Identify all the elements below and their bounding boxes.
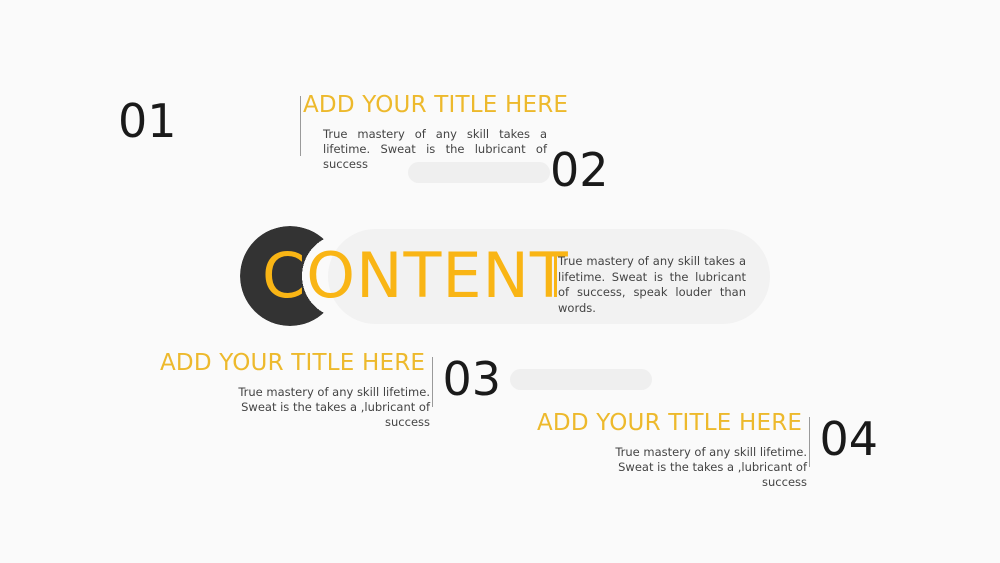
- block-03-number: 03: [442, 356, 501, 402]
- content-block-02[interactable]: 02 ADD YOUR TITLE HERE True mastery of a…: [550, 143, 895, 233]
- content-block-03[interactable]: ADD YOUR TITLE HERE 03 True mastery of a…: [160, 352, 510, 442]
- center-title: CONTENT: [262, 245, 569, 307]
- block-03-title: ADD YOUR TITLE HERE: [160, 352, 425, 375]
- block-01-number: 01: [118, 98, 177, 144]
- block-02-number: 02: [550, 147, 609, 193]
- block-04-title: ADD YOUR TITLE HERE: [537, 412, 802, 435]
- block-04-divider: [809, 417, 810, 467]
- block-04-body: True mastery of any skill lifetime. Swea…: [583, 445, 807, 491]
- block-04-number: 04: [819, 416, 878, 462]
- block-01-body: True mastery of any skill takes a lifeti…: [323, 127, 547, 173]
- content-block-04[interactable]: ADD YOUR TITLE HERE 04 True mastery of a…: [537, 412, 887, 502]
- center-content-group: CONTENT True mastery of any skill takes …: [240, 226, 770, 326]
- center-circle-letter: C: [262, 239, 306, 312]
- block-03-divider: [432, 357, 433, 407]
- center-title-rest: ONTENT: [306, 239, 568, 312]
- slide-canvas: CONTENT True mastery of any skill takes …: [0, 0, 1000, 563]
- center-divider: [554, 253, 557, 297]
- block-01-divider: [300, 96, 301, 156]
- center-body-text: True mastery of any skill takes a lifeti…: [558, 254, 746, 316]
- content-block-01[interactable]: 01 ADD YOUR TITLE HERE True mastery of a…: [118, 94, 468, 184]
- block-01-title: ADD YOUR TITLE HERE: [303, 94, 568, 117]
- block-03-body: True mastery of any skill lifetime. Swea…: [206, 385, 430, 431]
- decorative-pill-bottom: [510, 369, 652, 390]
